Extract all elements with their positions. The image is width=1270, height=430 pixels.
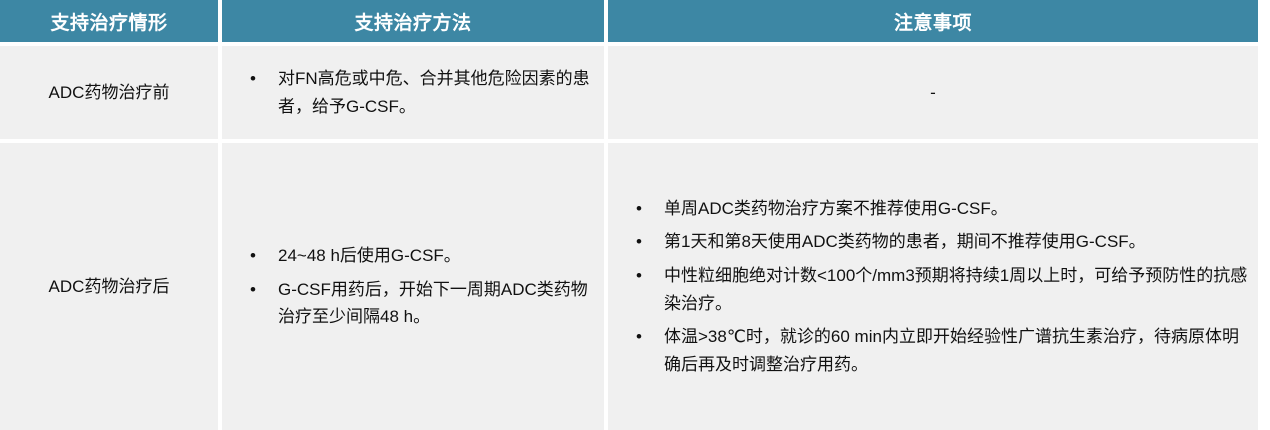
cell-situation-row2: ADC药物治疗后 [0, 139, 222, 430]
list-item: • G-CSF用药后，开始下一周期ADC类药物治疗至少间隔48 h。 [222, 276, 594, 331]
table-row: ADC药物治疗后 • 24~48 h后使用G-CSF。 • G-CSF用药后，开… [0, 139, 1258, 430]
support-treatment-table: 支持治疗情形 支持治疗方法 注意事项 ADC药物治疗前 • 对FN高危或中危、合… [0, 0, 1258, 430]
cell-method-row1: • 对FN高危或中危、合并其他危险因素的患者，给予G-CSF。 [222, 42, 608, 139]
list-item: • 第1天和第8天使用ADC类药物的患者，期间不推荐使用G-CSF。 [608, 228, 1248, 256]
table-header: 支持治疗情形 支持治疗方法 注意事项 [0, 0, 1258, 42]
table-row: ADC药物治疗前 • 对FN高危或中危、合并其他危险因素的患者，给予G-CSF。… [0, 42, 1258, 139]
bullet-icon: • [636, 195, 642, 223]
method-bullet-list-row1: • 对FN高危或中危、合并其他危险因素的患者，给予G-CSF。 [222, 65, 594, 120]
bullet-icon: • [250, 65, 256, 93]
list-item: • 单周ADC类药物治疗方案不推荐使用G-CSF。 [608, 195, 1248, 223]
method-list-wrapper-row1: • 对FN高危或中危、合并其他危险因素的患者，给予G-CSF。 [222, 61, 604, 124]
cell-situation-row1: ADC药物治疗前 [0, 42, 222, 139]
list-item: • 体温>38℃时，就诊的60 min内立即开始经验性广谱抗生素治疗，待病原体明… [608, 323, 1248, 378]
column-header-situation: 支持治疗情形 [0, 0, 222, 42]
method-list-wrapper-row2: • 24~48 h后使用G-CSF。 • G-CSF用药后，开始下一周期ADC类… [222, 238, 604, 335]
list-item: • 对FN高危或中危、合并其他危险因素的患者，给予G-CSF。 [222, 65, 594, 120]
list-item-text: 对FN高危或中危、合并其他危险因素的患者，给予G-CSF。 [278, 69, 590, 116]
list-item-text: 24~48 h后使用G-CSF。 [278, 246, 461, 265]
list-item-text: 第1天和第8天使用ADC类药物的患者，期间不推荐使用G-CSF。 [664, 232, 1146, 251]
bullet-icon: • [636, 323, 642, 351]
cell-method-row2: • 24~48 h后使用G-CSF。 • G-CSF用药后，开始下一周期ADC类… [222, 139, 608, 430]
table-header-row: 支持治疗情形 支持治疗方法 注意事项 [0, 0, 1258, 42]
list-item-text: 体温>38℃时，就诊的60 min内立即开始经验性广谱抗生素治疗，待病原体明确后… [664, 327, 1239, 374]
column-header-method: 支持治疗方法 [222, 0, 608, 42]
bullet-icon: • [636, 262, 642, 290]
column-header-notes: 注意事项 [608, 0, 1258, 42]
support-treatment-table-container: 支持治疗情形 支持治疗方法 注意事项 ADC药物治疗前 • 对FN高危或中危、合… [0, 0, 1258, 422]
bullet-icon: • [250, 276, 256, 304]
notes-bullet-list-row2: • 单周ADC类药物治疗方案不推荐使用G-CSF。 • 第1天和第8天使用ADC… [608, 195, 1248, 378]
method-bullet-list-row2: • 24~48 h后使用G-CSF。 • G-CSF用药后，开始下一周期ADC类… [222, 242, 594, 331]
list-item-text: G-CSF用药后，开始下一周期ADC类药物治疗至少间隔48 h。 [278, 280, 588, 327]
table-body: ADC药物治疗前 • 对FN高危或中危、合并其他危险因素的患者，给予G-CSF。… [0, 42, 1258, 430]
cell-notes-row2: • 单周ADC类药物治疗方案不推荐使用G-CSF。 • 第1天和第8天使用ADC… [608, 139, 1258, 430]
list-item: • 中性粒细胞绝对计数<100个/mm3预期将持续1周以上时，可给予预防性的抗感… [608, 262, 1248, 317]
notes-list-wrapper-row2: • 单周ADC类药物治疗方案不推荐使用G-CSF。 • 第1天和第8天使用ADC… [608, 191, 1258, 382]
list-item-text: 中性粒细胞绝对计数<100个/mm3预期将持续1周以上时，可给予预防性的抗感染治… [664, 266, 1247, 313]
list-item: • 24~48 h后使用G-CSF。 [222, 242, 594, 270]
bullet-icon: • [636, 228, 642, 256]
list-item-text: 单周ADC类药物治疗方案不推荐使用G-CSF。 [664, 199, 1008, 218]
bullet-icon: • [250, 242, 256, 270]
cell-notes-row1: - [608, 42, 1258, 139]
